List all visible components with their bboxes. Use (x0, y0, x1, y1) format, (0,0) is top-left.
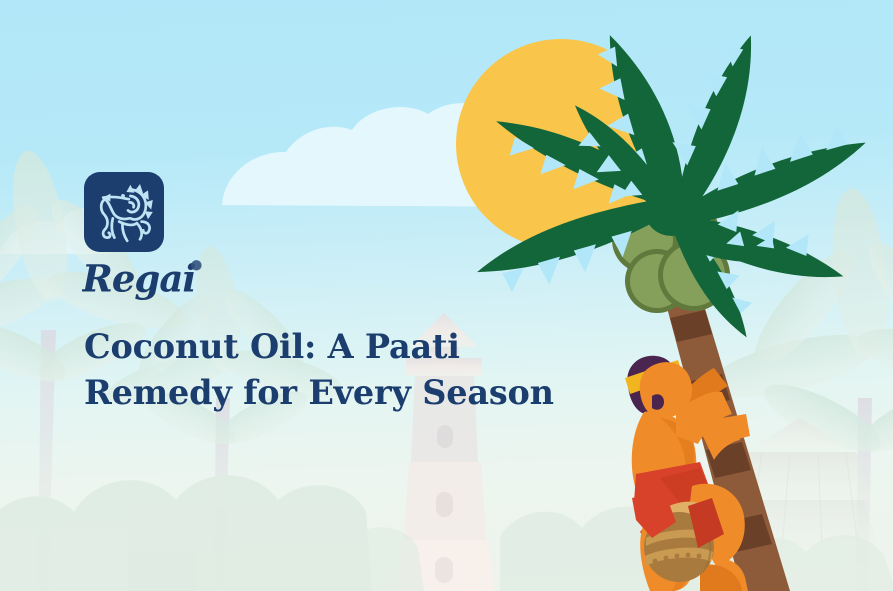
climber-hand-upper (722, 414, 750, 442)
foreground-palm-and-climber-layer (0, 0, 893, 591)
coconut-oil-blog-banner: Regai Coconut Oil: A Paati Remedy for Ev… (0, 0, 893, 591)
